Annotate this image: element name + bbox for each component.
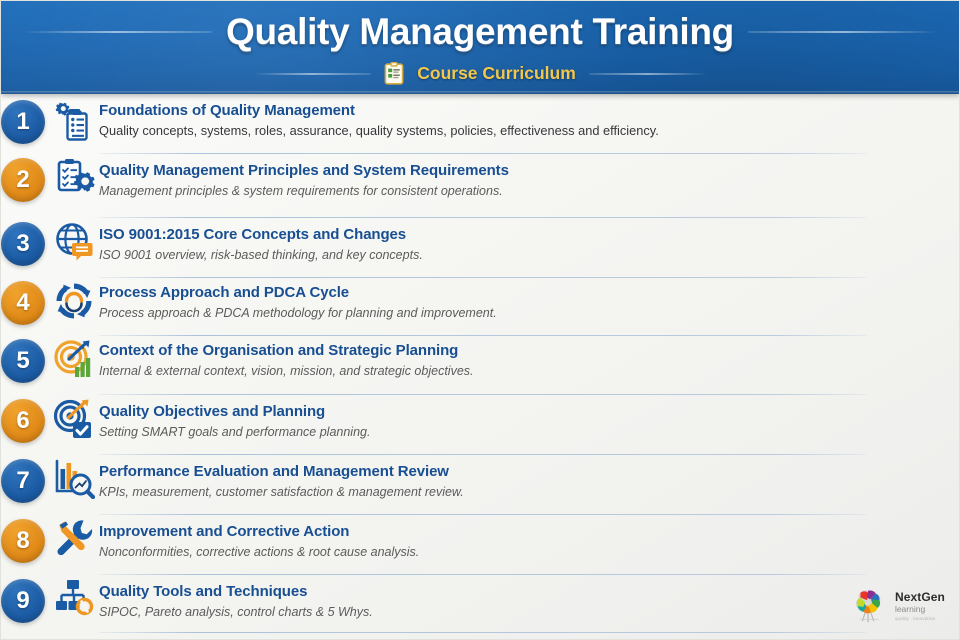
infographic-poster: Quality Management Training Course Curri… bbox=[0, 0, 960, 640]
item-title: Process Approach and PDCA Cycle bbox=[99, 283, 497, 302]
checklist-gear-icon bbox=[53, 157, 95, 199]
bar-chart-magnifier-icon bbox=[53, 457, 95, 499]
poster-header: Quality Management Training Course Curri… bbox=[1, 1, 959, 94]
item-description: ISO 9001 overview, risk-based thinking, … bbox=[99, 246, 423, 264]
logo-name: NextGen bbox=[895, 591, 945, 603]
page-subtitle: Course Curriculum bbox=[417, 63, 576, 84]
item-title: Foundations of Quality Management bbox=[99, 101, 659, 120]
item-number-badge: 3 bbox=[1, 222, 45, 266]
item-number-badge: 7 bbox=[1, 459, 45, 503]
item-number-badge: 1 bbox=[1, 100, 45, 144]
item-divider bbox=[99, 632, 866, 633]
item-title: ISO 9001:2015 Core Concepts and Changes bbox=[99, 225, 423, 244]
item-title: Performance Evaluation and Management Re… bbox=[99, 462, 464, 481]
item-number-badge: 9 bbox=[1, 579, 45, 623]
title-row: Quality Management Training bbox=[1, 11, 959, 53]
item-title: Quality Management Principles and System… bbox=[99, 161, 509, 180]
title-rule-right bbox=[748, 31, 938, 33]
title-rule-left bbox=[22, 31, 212, 33]
target-arrow-chart-icon bbox=[53, 338, 95, 380]
item-number-badge: 2 bbox=[1, 158, 45, 202]
curriculum-item-9[interactable]: 9 Quality Tools and Techniques SIPOC, Pa… bbox=[1, 574, 959, 632]
brand-logo: NextGen learning quality . innovation bbox=[850, 587, 945, 625]
target-checkbox-icon bbox=[53, 398, 95, 440]
item-description: Internal & external context, vision, mis… bbox=[99, 362, 474, 380]
logo-subtitle: learning bbox=[895, 605, 945, 614]
item-description: Management principles & system requireme… bbox=[99, 182, 509, 200]
item-title: Improvement and Corrective Action bbox=[99, 522, 419, 541]
brain-logo-icon bbox=[850, 587, 888, 625]
curriculum-item-8[interactable]: 8 Improvement and Corrective Action Nonc… bbox=[1, 514, 959, 574]
curriculum-item-3[interactable]: 3 ISO 9001:2015 Core Concepts and Change… bbox=[1, 217, 959, 277]
org-chart-icon bbox=[53, 577, 95, 619]
item-number-badge: 4 bbox=[1, 281, 45, 325]
gear-clipboard-icon bbox=[53, 101, 95, 143]
curriculum-item-2[interactable]: 2 Quality Management Principles and Syst… bbox=[1, 153, 959, 217]
curriculum-item-1[interactable]: 1 Foundations of Quality Manage bbox=[1, 100, 959, 153]
curriculum-item-5[interactable]: 5 Context of the Organisation and Strate… bbox=[1, 335, 959, 394]
curriculum-item-6[interactable]: 6 Quality Objectives and Planning Settin… bbox=[1, 394, 959, 454]
subtitle-rule-left bbox=[253, 73, 371, 75]
item-title: Quality Tools and Techniques bbox=[99, 582, 373, 601]
globe-chat-icon bbox=[53, 221, 95, 263]
item-description: Nonconformities, corrective actions & ro… bbox=[99, 543, 419, 561]
item-description: Quality concepts, systems, roles, assura… bbox=[99, 122, 659, 140]
item-number-badge: 8 bbox=[1, 519, 45, 563]
cycle-arrows-icon bbox=[53, 280, 95, 322]
page-title: Quality Management Training bbox=[226, 11, 734, 53]
subtitle-row: Course Curriculum bbox=[1, 62, 959, 85]
subtitle-rule-right bbox=[589, 73, 707, 75]
item-description: KPIs, measurement, customer satisfaction… bbox=[99, 483, 464, 501]
item-description: Setting SMART goals and performance plan… bbox=[99, 423, 370, 441]
clipboard-icon bbox=[384, 62, 404, 85]
curriculum-list: 1 Foundations of Quality Manage bbox=[1, 100, 959, 632]
item-description: Process approach & PDCA methodology for … bbox=[99, 304, 497, 322]
item-description: SIPOC, Pareto analysis, control charts &… bbox=[99, 603, 373, 621]
item-title: Context of the Organisation and Strategi… bbox=[99, 341, 474, 360]
item-number-badge: 5 bbox=[1, 339, 45, 383]
curriculum-item-7[interactable]: 7 Performance Evaluation and Management … bbox=[1, 454, 959, 514]
logo-tagline: quality . innovation bbox=[895, 617, 945, 621]
curriculum-item-4[interactable]: 4 Pr bbox=[1, 277, 959, 335]
wrench-screwdriver-icon bbox=[53, 517, 95, 559]
item-number-badge: 6 bbox=[1, 399, 45, 443]
item-title: Quality Objectives and Planning bbox=[99, 402, 370, 421]
